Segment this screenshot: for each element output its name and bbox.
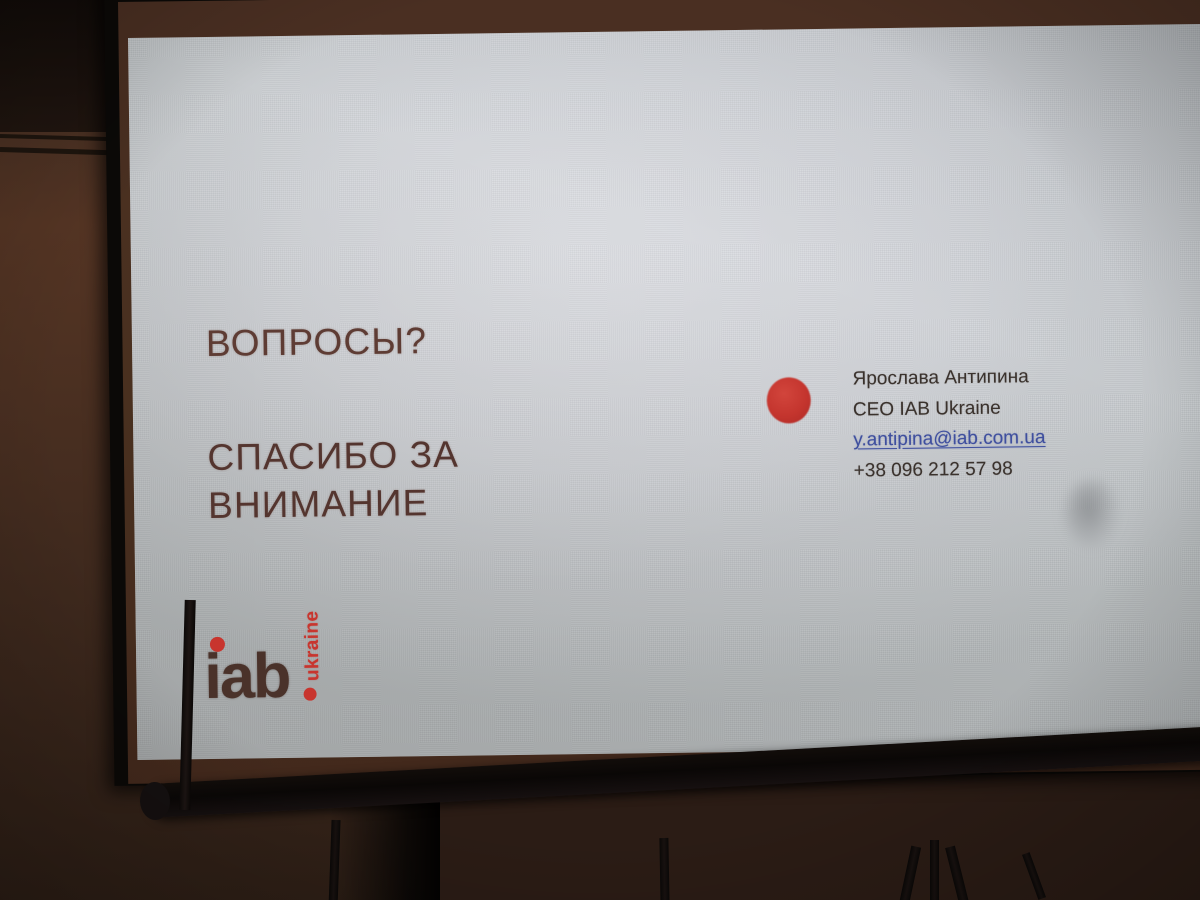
screen-smudge (1064, 480, 1119, 549)
contact-phone: +38 096 212 57 98 (854, 456, 1046, 484)
stand-leg (328, 820, 340, 900)
slide-content: ВОПРОСЫ? СПАСИБО ЗА ВНИМАНИЕ Ярослава Ан… (128, 24, 1200, 760)
projection-screen-unit: ВОПРОСЫ? СПАСИБО ЗА ВНИМАНИЕ Ярослава Ан… (0, 0, 1200, 900)
contact-details: Ярослава Антипина CEO IAB Ukraine y.anti… (852, 364, 1046, 484)
stand-leg (899, 846, 921, 900)
contact-name: Ярослава Антипина (852, 364, 1044, 392)
contact-email-link[interactable]: y.antipina@iab.com.ua (853, 425, 1045, 453)
red-circle-icon (767, 377, 812, 424)
stand-leg (1022, 852, 1046, 900)
stand-leg (930, 840, 939, 900)
contact-block: Ярослава Антипина CEO IAB Ukraine y.anti… (766, 364, 1046, 485)
logo-region-dot-icon (304, 688, 317, 701)
photo-scene: ВОПРОСЫ? СПАСИБО ЗА ВНИМАНИЕ Ярослава Ан… (0, 0, 1200, 900)
stand-leg (945, 846, 969, 900)
projected-slide: ВОПРОСЫ? СПАСИБО ЗА ВНИМАНИЕ Ярослава Ан… (128, 24, 1200, 760)
logo-wordmark: iab (204, 651, 290, 704)
stand-leg (659, 838, 669, 900)
contact-role: CEO IAB Ukraine (853, 395, 1045, 423)
headline-thank-you: СПАСИБО ЗА ВНИМАНИЕ (207, 431, 460, 530)
headline-questions: ВОПРОСЫ? (206, 322, 458, 362)
slide-headlines: ВОПРОСЫ? СПАСИБО ЗА ВНИМАНИЕ (206, 322, 460, 530)
logo-region-label: ukraine (302, 610, 325, 681)
iab-ukraine-logo: iab ukraine (203, 592, 364, 704)
